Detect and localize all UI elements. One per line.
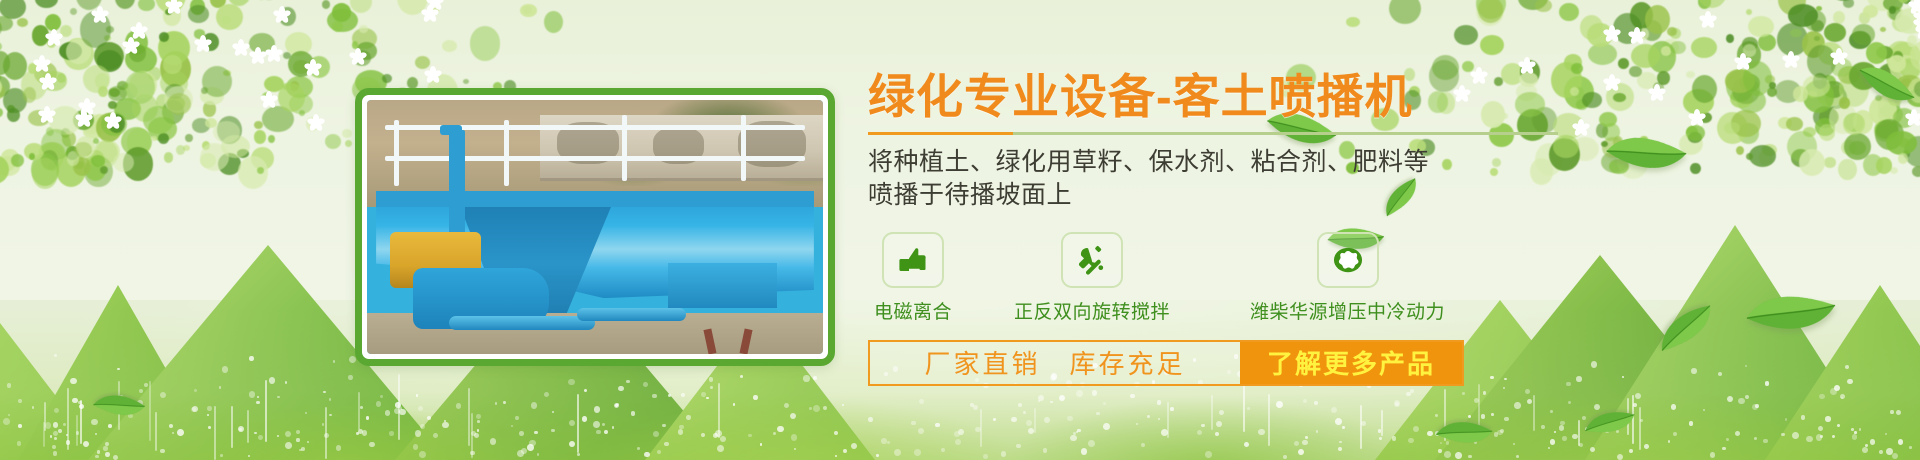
cta-slogan: 厂家直销 库存充足 xyxy=(870,342,1240,384)
title-divider xyxy=(868,132,1558,135)
learn-more-button[interactable]: 了解更多产品 xyxy=(1240,342,1462,384)
photo-pipe xyxy=(577,308,686,321)
photo-pipe xyxy=(449,316,595,330)
feature-list: 电磁离合 正反双向旋转搅拌 xyxy=(868,232,1608,324)
promo-banner: 绿化专业设备-客土喷播机 将种植土、绿化用草籽、保水剂、粘合剂、肥料等 喷播于待… xyxy=(0,0,1920,460)
feature-item-electromagnetic-clutch: 电磁离合 xyxy=(874,232,952,324)
thumbs-up-icon xyxy=(882,232,944,288)
subtitle-line-2: 喷播于待播坡面上 xyxy=(868,181,1072,209)
feature-item-turbo-power: 潍柴华源增压中冷动力 xyxy=(1250,232,1445,324)
page-title: 绿化专业设备-客土喷播机 xyxy=(868,72,1608,123)
feature-label: 正反双向旋转搅拌 xyxy=(1014,297,1170,324)
tools-icon xyxy=(1061,232,1123,288)
feature-label: 潍柴华源增压中冷动力 xyxy=(1250,297,1445,324)
photo-railing-post xyxy=(622,115,627,181)
photo-control-box xyxy=(668,263,777,309)
content-column: 绿化专业设备-客土喷播机 将种植土、绿化用草籽、保水剂、粘合剂、肥料等 喷播于待… xyxy=(868,72,1608,386)
gear-icon xyxy=(1317,232,1379,288)
subtitle: 将种植土、绿化用草籽、保水剂、粘合剂、肥料等 喷播于待播坡面上 xyxy=(868,146,1608,212)
cta-bar: 厂家直销 库存充足 了解更多产品 xyxy=(868,340,1464,386)
feature-label: 电磁离合 xyxy=(874,297,952,324)
product-photo-frame[interactable] xyxy=(355,88,835,366)
photo-frame-beam xyxy=(376,191,814,207)
subtitle-line-1: 将种植土、绿化用草籽、保水剂、粘合剂、肥料等 xyxy=(868,148,1429,176)
product-photo xyxy=(367,100,823,354)
feature-item-bidirectional-mixing: 正反双向旋转搅拌 xyxy=(1014,232,1170,324)
photo-post-cap xyxy=(440,125,462,135)
photo-railing-post xyxy=(741,115,746,181)
photo-railing-post xyxy=(394,120,399,186)
photo-railing-post xyxy=(504,120,509,186)
